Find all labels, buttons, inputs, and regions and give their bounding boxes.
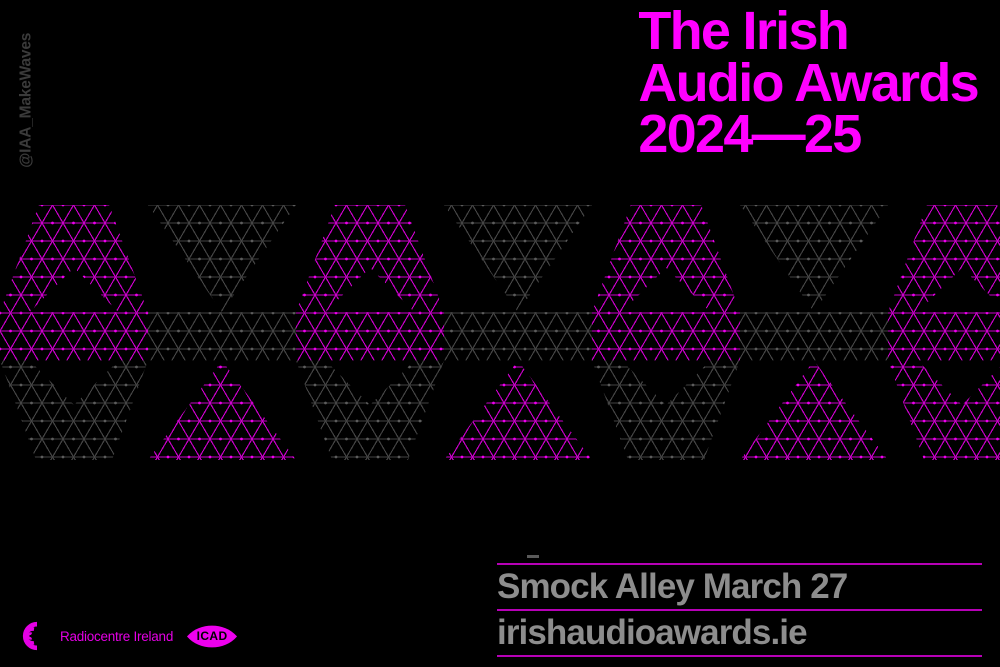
icad-logo[interactable]: ICAD (186, 621, 238, 652)
tick-mark (527, 555, 539, 558)
social-handle-container: @IAA_MakeWaves (0, 0, 46, 190)
mesh-triangle (592, 312, 740, 360)
event-details: Smock Alley March 27 irishaudioawards.ie (497, 563, 982, 657)
title-line-1: The Irish (638, 6, 978, 58)
social-handle: @IAA_MakeWaves (18, 0, 34, 168)
venue-date: Smock Alley March 27 (497, 565, 982, 609)
title-line-2: Audio Awards (638, 58, 978, 110)
mesh-triangle (148, 361, 296, 460)
mesh-triangle (740, 205, 888, 312)
poster-canvas: @IAA_MakeWaves (0, 0, 1000, 667)
mesh-triangle (444, 312, 592, 360)
radiocentre-label: Radiocentre Ireland (60, 629, 173, 644)
mesh-triangle (888, 312, 1000, 360)
sponsor-logos: Radiocentre Ireland ICAD (14, 619, 238, 653)
icad-label: ICAD (186, 621, 238, 652)
website-url[interactable]: irishaudioawards.ie (497, 611, 982, 655)
mesh-triangle (148, 205, 296, 312)
mesh-triangle (444, 205, 592, 312)
radiocentre-ireland-logo[interactable]: Radiocentre Ireland (14, 619, 173, 653)
mesh-triangle (148, 312, 296, 360)
divider-bottom (497, 655, 982, 657)
mesh-triangle (0, 312, 148, 360)
page-title: The Irish Audio Awards 2024—25 (638, 6, 978, 161)
mesh-triangle (740, 312, 888, 360)
concentric-c-icon (14, 619, 54, 653)
mesh-triangle (296, 312, 444, 360)
mesh-triangle (444, 361, 592, 460)
mesh-triangle (740, 361, 888, 460)
title-line-3: 2024—25 (638, 109, 978, 161)
